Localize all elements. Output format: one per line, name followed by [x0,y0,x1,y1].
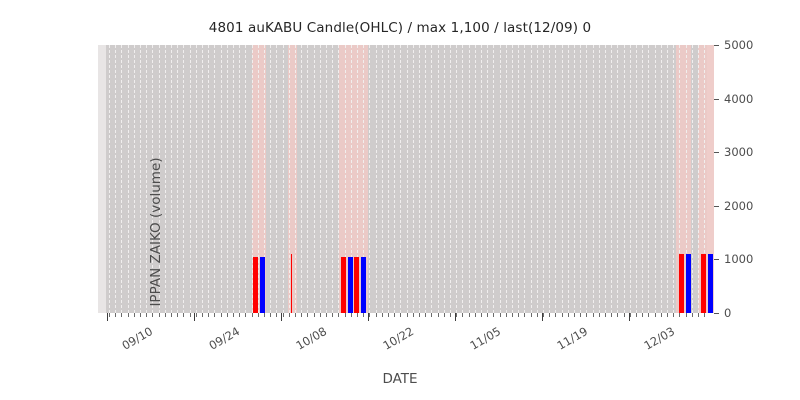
x-axis-tick-minor [642,313,643,317]
x-axis-tick-minor [345,313,346,317]
x-axis-tick-minor [245,313,246,317]
x-axis-tick-minor [289,313,290,317]
y-axis-tick [714,99,719,100]
x-axis-tick-minor [233,313,234,317]
x-axis-title: DATE [0,371,800,387]
x-axis-tick-minor [351,313,352,317]
x-axis-tick-minor [171,313,172,317]
x-axis-tick-minor [400,313,401,317]
x-axis-tick-minor [295,313,296,317]
x-axis-tick-minor [270,313,271,317]
x-axis-tick-minor [679,313,680,317]
x-axis-tick-minor [580,313,581,317]
x-axis-tick-minor [152,313,153,317]
x-axis-tick-major [455,313,456,321]
x-axis-tick-minor [258,313,259,317]
y-axis-tick-label: 4000 [724,92,753,106]
x-axis-tick-minor [568,313,569,317]
x-axis-tick-minor [562,313,563,317]
x-axis-tick-minor [698,313,699,317]
x-axis-tick-label: 12/03 [641,324,677,353]
x-axis-tick-minor [493,313,494,317]
x-axis-tick-minor [332,313,333,317]
x-axis-tick-minor [326,313,327,317]
x-axis-tick-major [281,313,282,321]
x-axis-tick-minor [159,313,160,317]
x-axis-tick-minor [134,313,135,317]
x-axis-tick-minor [214,313,215,317]
x-axis-tick-minor [549,313,550,317]
x-axis-tick-minor [183,313,184,317]
x-axis-tick-minor [314,313,315,317]
x-axis-tick-minor [413,313,414,317]
x-axis-tick-minor [518,313,519,317]
x-axis-tick-major [542,313,543,321]
x-axis-tick-minor [686,313,687,317]
y-axis-tick [714,259,719,260]
x-axis-tick-minor [444,313,445,317]
x-axis-tick-minor [357,313,358,317]
chart-title: 4801 auKABU Candle(OHLC) / max 1,100 / l… [0,20,800,36]
x-axis-tick-minor [146,313,147,317]
x-axis-tick-minor [481,313,482,317]
x-axis-tick-minor [320,313,321,317]
y-axis-tick-label: 2000 [724,199,753,213]
x-axis-tick-minor [512,313,513,317]
x-axis-tick-minor [425,313,426,317]
chart-figure: 4801 auKABU Candle(OHLC) / max 1,100 / l… [0,0,800,400]
x-axis-tick-minor [574,313,575,317]
x-axis-tick-minor [667,313,668,317]
x-axis-tick-major [107,313,108,321]
x-axis-tick-minor [648,313,649,317]
x-axis-tick-minor [394,313,395,317]
x-axis-tick-minor [239,313,240,317]
x-axis-tick-minor [109,313,110,317]
x-axis-tick-minor [221,313,222,317]
x-axis-tick-minor [636,313,637,317]
x-axis-tick-minor [388,313,389,317]
x-axis-tick-minor [276,313,277,317]
y-axis-tick-label: 5000 [724,38,753,52]
x-axis-tick-minor [283,313,284,317]
x-axis-tick-major [629,313,630,321]
x-axis-tick-minor [419,313,420,317]
x-axis-tick-minor [599,313,600,317]
x-axis-tick-label: 11/19 [554,324,590,353]
x-axis-tick-minor [655,313,656,317]
x-axis-tick-major [368,313,369,321]
x-axis-tick-minor [202,313,203,317]
x-axis-tick-major [194,313,195,321]
x-axis-tick-minor [115,313,116,317]
x-axis-tick-minor [543,313,544,317]
x-axis-tick-minor [555,313,556,317]
y-axis-tick-label: 3000 [724,145,753,159]
x-axis-tick-label: 11/05 [467,324,503,353]
x-axis-tick-minor [624,313,625,317]
x-axis-tick-label: 09/24 [206,324,242,353]
x-axis-tick-minor [462,313,463,317]
x-axis-tick-minor [500,313,501,317]
x-axis-tick-minor [617,313,618,317]
x-axis-tick-minor [586,313,587,317]
x-axis-tick-minor [177,313,178,317]
x-axis-tick-minor [704,313,705,317]
x-axis-tick-minor [363,313,364,317]
x-axis-tick-minor [438,313,439,317]
x-axis-tick-minor [252,313,253,317]
y-axis-tick-label: 0 [724,306,731,320]
x-axis-tick-minor [190,313,191,317]
x-axis-tick-minor [301,313,302,317]
x-axis-tick-minor [593,313,594,317]
x-axis-tick-minor [661,313,662,317]
x-axis-tick-minor [376,313,377,317]
x-axis-tick-minor [537,313,538,317]
x-axis-tick-minor [611,313,612,317]
x-axis-tick-minor [431,313,432,317]
x-axis-tick-label: 10/08 [293,324,329,353]
x-axis-tick-minor [128,313,129,317]
y-axis-tick [714,152,719,153]
x-axis-tick-minor [140,313,141,317]
x-axis-tick-minor [208,313,209,317]
x-axis-tick-minor [456,313,457,317]
x-axis-tick-minor [121,313,122,317]
x-axis-tick-minor [506,313,507,317]
y-axis-title: IPPAN ZAIKO (volume) [148,102,164,362]
y-axis-tick [714,313,719,314]
x-axis-tick-minor [450,313,451,317]
x-axis-tick-minor [165,313,166,317]
x-axis-tick-minor [407,313,408,317]
y-axis-tick-label: 1000 [724,252,753,266]
x-axis-tick-minor [382,313,383,317]
x-axis-tick-minor [692,313,693,317]
x-axis-tick-minor [487,313,488,317]
x-axis-tick-minor [227,313,228,317]
x-axis-tick-minor [469,313,470,317]
y-axis-title-wrapper: IPPAN ZAIKO (volume) [98,45,714,313]
x-axis-tick-minor [524,313,525,317]
x-axis-tick-label: 10/22 [380,324,416,353]
x-axis-tick-minor [605,313,606,317]
x-axis-tick-minor [673,313,674,317]
y-axis-tick [714,206,719,207]
x-axis-tick-minor [475,313,476,317]
x-axis-tick-minor [307,313,308,317]
x-axis-tick-minor [369,313,370,317]
y-axis-tick [714,45,719,46]
x-axis-tick-minor [531,313,532,317]
x-axis-tick-minor [338,313,339,317]
x-axis-tick-minor [264,313,265,317]
x-axis-tick-minor [196,313,197,317]
